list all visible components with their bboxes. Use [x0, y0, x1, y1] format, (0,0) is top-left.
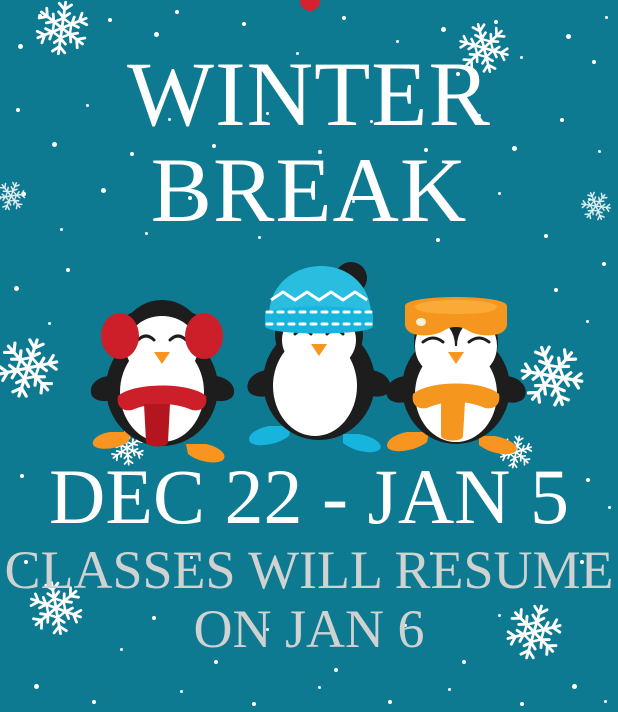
snow-dot — [175, 10, 179, 14]
note-line-classes-resume: CLASSES WILL RESUME — [0, 543, 618, 598]
snow-dot — [605, 16, 608, 19]
snow-dot — [252, 702, 256, 706]
snow-dot — [520, 702, 524, 706]
snow-dot — [92, 700, 96, 704]
penguin-with-goggles-icon — [383, 280, 529, 458]
snow-dot — [572, 684, 577, 689]
winter-break-poster: WINTER BREAK — [0, 0, 618, 712]
snow-dot — [108, 18, 112, 22]
snow-dot — [566, 34, 571, 39]
snow-dot — [154, 32, 159, 37]
snow-dot — [441, 27, 446, 32]
headline-line-break: BREAK — [0, 146, 618, 234]
snow-dot — [388, 700, 392, 704]
penguin-with-beanie-icon — [243, 258, 395, 458]
snow-dot — [334, 668, 338, 672]
snow-dot — [318, 686, 321, 689]
penguin-illustration-group — [0, 258, 618, 458]
snow-dot — [242, 22, 246, 26]
headline-group: WINTER BREAK — [0, 50, 618, 235]
snow-dot — [34, 684, 39, 689]
snow-dot — [448, 688, 451, 691]
snow-dot — [604, 700, 607, 703]
date-range-text: DEC 22 - JAN 5 — [0, 458, 618, 536]
snow-dot — [18, 44, 23, 49]
snow-dot — [342, 16, 346, 20]
notes-block: CLASSES WILL RESUME ON JAN 6 — [0, 543, 618, 657]
red-bauble-decoration — [300, 0, 320, 11]
note-line-resume-date: ON JAN 6 — [0, 602, 618, 657]
snow-dot — [180, 690, 183, 693]
snow-dot — [214, 660, 218, 664]
snow-dot — [462, 660, 466, 664]
headline-line-winter: WINTER — [0, 50, 618, 138]
snow-dot — [494, 20, 498, 24]
snow-dot — [38, 14, 42, 18]
date-block: DEC 22 - JAN 5 — [0, 458, 618, 536]
penguin-with-earmuffs-icon — [88, 292, 238, 464]
